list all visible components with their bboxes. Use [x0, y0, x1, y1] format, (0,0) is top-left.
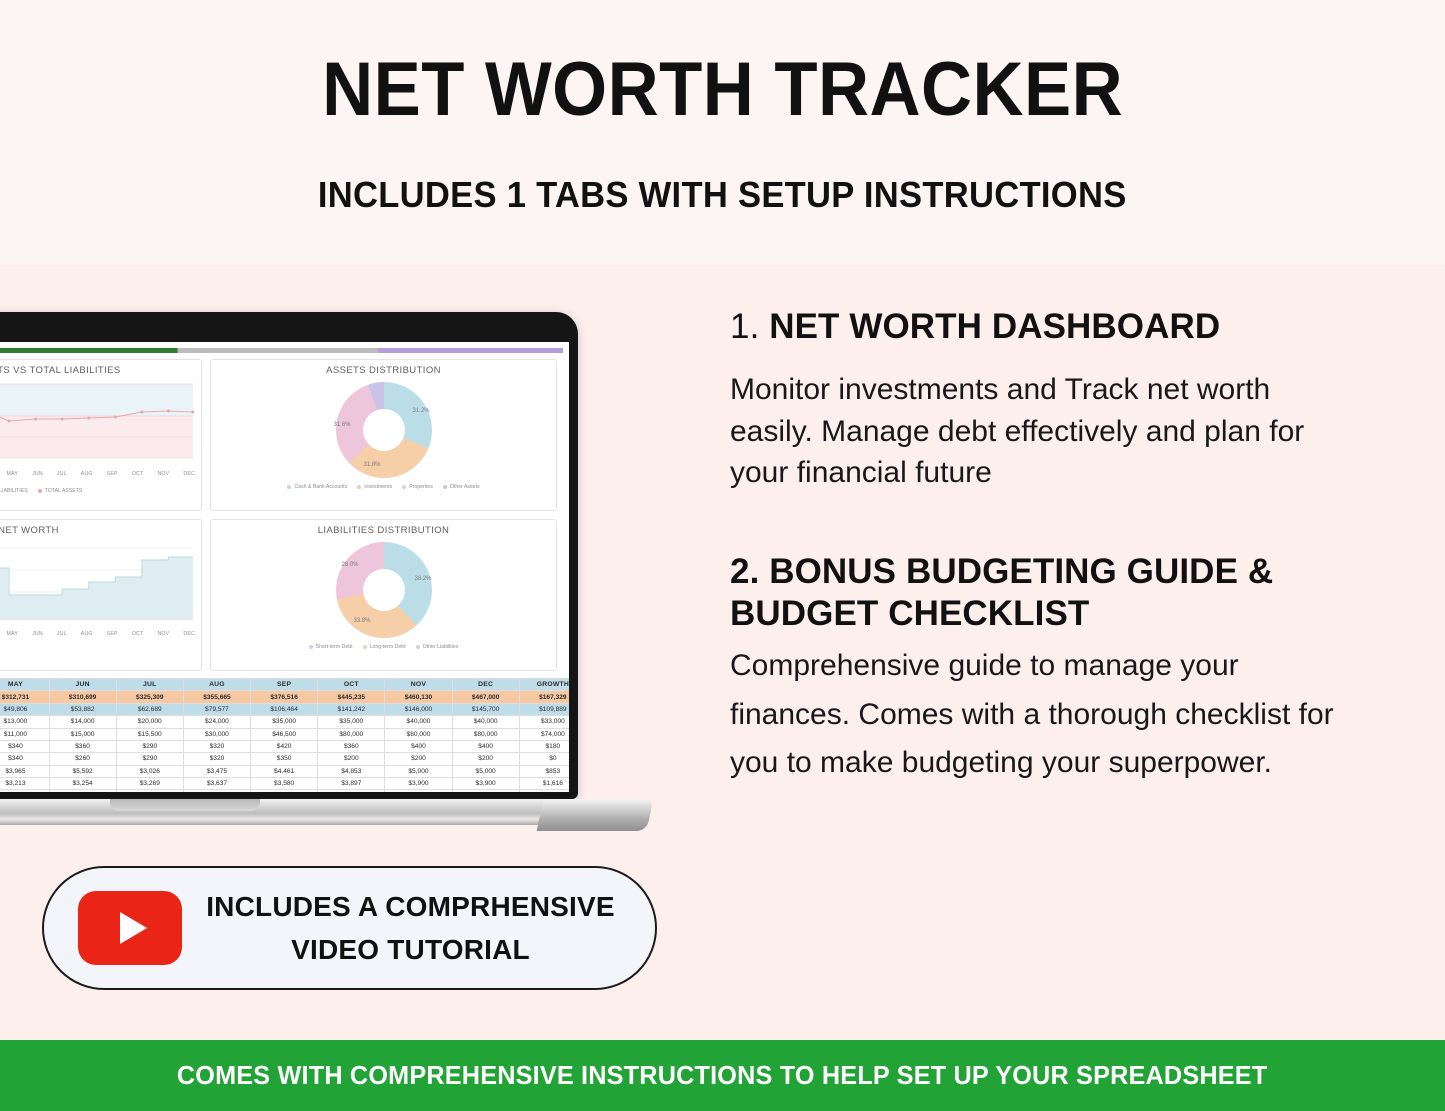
xaxis-net-worth: START JAN FEB MAR APR MAY JUN JUL AUG SE…: [0, 630, 197, 637]
feature-heading-2: 2. BONUS BUDGETING GUIDE & BUDGET CHECKL…: [730, 551, 1370, 634]
legend-item: Other Liabilities: [416, 644, 459, 650]
slice-label-short-term: 38.2%: [414, 576, 431, 582]
table-cell[interactable]: $3,637: [183, 778, 250, 790]
table-col-header: GROWTH: [519, 679, 569, 691]
table-cell[interactable]: $4,356: [251, 790, 318, 792]
xtick: SEP: [107, 471, 118, 477]
laptop-notch: [110, 799, 260, 811]
table-cell[interactable]: $460,130: [385, 691, 452, 703]
table-cell[interactable]: $350: [251, 753, 318, 765]
table-cell[interactable]: -$2,315: [519, 790, 569, 792]
table-cell[interactable]: $109,889: [519, 703, 569, 715]
legend-liabilities-distribution: Short-term Debt Long-term Debt Other Lia…: [215, 644, 552, 650]
table-cell[interactable]: $180: [519, 740, 569, 752]
chart-title-assets-vs-liabilities: TOTAL ASSETS VS TOTAL LIABILITIES: [0, 365, 197, 376]
table-row[interactable]: $280$300$340$360$290$320$420$360$400$400…: [0, 740, 569, 752]
video-tutorial-line2: VIDEO TUTORIAL: [182, 928, 639, 971]
donut-assets-distribution: 31.2% 31.8% 31.6%: [215, 378, 552, 482]
table-cell[interactable]: $340: [0, 740, 49, 752]
xtick: JUL: [57, 631, 67, 637]
chart-title-liabilities-distribution: LIABILITIES DISTRIBUTION: [215, 525, 552, 536]
xtick: SEP: [107, 631, 118, 637]
table-col-header: AUG: [183, 679, 250, 691]
table-row[interactable]: $302,485$396,856$312,731$310,699$325,309…: [0, 691, 569, 703]
legend-label: Properties: [409, 484, 433, 490]
feature-number-2: 2.: [730, 552, 759, 591]
xtick: NOV: [157, 631, 169, 637]
legend-item: Other Assets: [443, 484, 480, 490]
table-cell[interactable]: $5,703: [49, 790, 116, 792]
table-cell[interactable]: $4,853: [318, 765, 385, 777]
feature-number-1: 1.: [730, 307, 759, 346]
donut-hole: [363, 569, 405, 611]
legend-swatch-icon: [38, 489, 42, 493]
table-cell[interactable]: $320: [183, 740, 250, 752]
table-cell[interactable]: $400: [385, 740, 452, 752]
chart-card-net-worth: NET WORTH START: [0, 519, 202, 671]
legend-label: TOTAL LIABILITIES: [0, 488, 28, 494]
legend-swatch-icon: [309, 645, 313, 649]
legend-swatch-icon: [363, 645, 367, 649]
table-cell[interactable]: $15,000: [49, 728, 116, 740]
table-cell[interactable]: $200: [452, 753, 519, 765]
table-col-header: JUN: [49, 679, 116, 691]
slice-label-cash: 31.2%: [412, 408, 429, 414]
table-cell[interactable]: $4,461: [251, 765, 318, 777]
table-cell[interactable]: $35,000: [251, 716, 318, 728]
table-col-header: MAY: [0, 679, 49, 691]
table-cell[interactable]: $145,700: [452, 703, 519, 715]
laptop-foot: [537, 799, 654, 831]
table-cell[interactable]: $13,000: [0, 716, 49, 728]
legend-swatch-icon: [402, 485, 406, 489]
table-col-header: JUL: [116, 679, 183, 691]
legend-swatch-icon: [416, 645, 420, 649]
table-cell[interactable]: $3,900: [385, 778, 452, 790]
chart-title-net-worth: NET WORTH: [0, 525, 197, 536]
plot-svg-assets-vs-liabilities: [0, 378, 197, 470]
table-cell[interactable]: $74,000: [519, 728, 569, 740]
table-cell[interactable]: $35,000: [318, 716, 385, 728]
slice-label-properties: 31.6%: [334, 422, 351, 428]
table-col-header: DEC: [452, 679, 519, 691]
table-cell[interactable]: $3,965: [0, 765, 49, 777]
table-cell[interactable]: $80,000: [452, 728, 519, 740]
table-cell[interactable]: $325,309: [116, 691, 183, 703]
legend-item: TOTAL ASSETS: [38, 488, 83, 494]
xtick: JUL: [57, 471, 67, 477]
laptop-mockup: TOTAL ASSETS VS TOTAL LIABILITIES: [0, 312, 660, 832]
table-cell[interactable]: $24,000: [183, 716, 250, 728]
plot-net-worth: START JAN FEB MAR APR MAY JUN JUL AUG SE…: [0, 538, 197, 646]
feature-block-2: 2. BONUS BUDGETING GUIDE & BUDGET CHECKL…: [730, 551, 1370, 787]
charts-grid: TOTAL ASSETS VS TOTAL LIABILITIES: [0, 359, 563, 671]
table-cell[interactable]: $290: [116, 753, 183, 765]
xaxis-assets-vs-liabilities: START JAN FEB MAR APR MAY JUN JUL AUG SE…: [0, 470, 197, 477]
video-tutorial-line1: INCLUDES A COMPRHENSIVE: [182, 885, 639, 928]
table-header-row: MAR APR MAY JUN JUL AUG SEP OCT NOV DEC …: [0, 679, 569, 691]
xtick: AUG: [81, 471, 93, 477]
table-cell[interactable]: $200: [318, 753, 385, 765]
legend-swatch-icon: [357, 485, 361, 489]
table-cell[interactable]: $467,000: [452, 691, 519, 703]
legend-assets-vs-liabilities: TOTAL LIABILITIES TOTAL ASSETS: [0, 488, 197, 494]
table-cell[interactable]: $312,731: [0, 691, 49, 703]
legend-label: Long-term Debt: [370, 644, 406, 650]
chart-card-assets-distribution: ASSETS DISTRIBUTION 31.2% 31.8% 31.6% Ca…: [210, 359, 557, 511]
feature-title-2: BONUS BUDGETING GUIDE & BUDGET CHECKLIST: [730, 552, 1273, 632]
table-cell[interactable]: $167,329: [519, 691, 569, 703]
table-cell[interactable]: $11,000: [0, 728, 49, 740]
table-cell[interactable]: $0: [519, 753, 569, 765]
table-cell[interactable]: $260: [49, 753, 116, 765]
table-cell[interactable]: $360: [49, 740, 116, 752]
table-cell[interactable]: $3,254: [49, 778, 116, 790]
donut-hole: [363, 409, 405, 451]
table-cell[interactable]: $30,000: [183, 728, 250, 740]
feature-heading-1: 1. NET WORTH DASHBOARD: [730, 306, 1370, 347]
table-cell[interactable]: $5,109: [318, 790, 385, 792]
video-tutorial-label: INCLUDES A COMPRHENSIVE VIDEO TUTORIAL: [182, 885, 655, 972]
plot-svg-net-worth: [0, 538, 197, 630]
table-row[interactable]: $40,933$151,123$49,806$53,882$62,689$79,…: [0, 703, 569, 715]
table-cell[interactable]: $20,000: [116, 716, 183, 728]
table-cell[interactable]: $290: [116, 740, 183, 752]
table-cell[interactable]: $49,806: [0, 703, 49, 715]
legend-swatch-icon: [443, 485, 447, 489]
table-cell[interactable]: $1,616: [519, 778, 569, 790]
table-cell[interactable]: $106,464: [251, 703, 318, 715]
table-row[interactable]: $3,953$5,531$3,965$5,592$3,026$3,475$4,4…: [0, 765, 569, 777]
header: NET WORTH TRACKER INCLUDES 1 TABS WITH S…: [0, 0, 1445, 265]
table-cell[interactable]: $80,000: [385, 728, 452, 740]
table-cell[interactable]: $15,500: [116, 728, 183, 740]
laptop-screen: TOTAL ASSETS VS TOTAL LIABILITIES: [0, 342, 569, 792]
table-col-header: OCT: [318, 679, 385, 691]
feature-title-1: NET WORTH DASHBOARD: [769, 307, 1220, 346]
table-cell[interactable]: $3,580: [251, 778, 318, 790]
legend-assets-distribution: Cash & Bank Accounts Investments Propert…: [215, 484, 552, 490]
table-cell[interactable]: $5,200: [385, 790, 452, 792]
chart-title-assets-distribution: ASSETS DISTRIBUTION: [215, 365, 552, 376]
table-cell[interactable]: $3,900: [452, 778, 519, 790]
legend-label: Cash & Bank Accounts: [294, 484, 347, 490]
table-cell[interactable]: $853: [519, 765, 569, 777]
table-cell[interactable]: $53,882: [49, 703, 116, 715]
table-cell[interactable]: $400: [452, 740, 519, 752]
table-col-header: SEP: [251, 679, 318, 691]
table-cell[interactable]: $5,592: [49, 765, 116, 777]
table-cell[interactable]: $3,269: [116, 778, 183, 790]
table-cell[interactable]: $141,242: [318, 703, 385, 715]
feature-body-1: Monitor investments and Track net worth …: [730, 369, 1355, 493]
table-row[interactable]: $9,500$10,000$13,000$14,000$20,000$24,00…: [0, 716, 569, 728]
features-column: 1. NET WORTH DASHBOARD Monitor investmen…: [730, 306, 1370, 788]
table-cell[interactable]: $4,952: [116, 790, 183, 792]
table-cell[interactable]: $320: [183, 753, 250, 765]
table-cell[interactable]: $360: [318, 740, 385, 752]
xtick: OCT: [132, 471, 144, 477]
laptop-lid: TOTAL ASSETS VS TOTAL LIABILITIES: [0, 312, 578, 799]
table-cell[interactable]: $310,699: [49, 691, 116, 703]
legend-label: Other Liabilities: [423, 644, 459, 650]
table-cell[interactable]: $376,516: [251, 691, 318, 703]
spreadsheet-toolbar-strip: [0, 348, 563, 353]
donut-ring-assets: 31.2% 31.8% 31.6%: [336, 382, 432, 478]
xtick: OCT: [132, 631, 144, 637]
page-subtitle: INCLUDES 1 TABS WITH SETUP INSTRUCTIONS: [318, 174, 1127, 216]
feature-block-1: 1. NET WORTH DASHBOARD Monitor investmen…: [730, 306, 1370, 493]
legend-item: TOTAL LIABILITIES: [0, 488, 28, 494]
table-cell[interactable]: $80,000: [318, 728, 385, 740]
table-cell[interactable]: $445,235: [318, 691, 385, 703]
legend-item: Short-term Debt: [309, 644, 353, 650]
table-cell[interactable]: $46,500: [251, 728, 318, 740]
xtick: JUN: [32, 631, 43, 637]
legend-label: Short-term Debt: [316, 644, 353, 650]
feature-body-2: Comprehensive guide to manage your finan…: [730, 642, 1355, 788]
table-cell[interactable]: $40,000: [452, 716, 519, 728]
table-cell[interactable]: $40,000: [385, 716, 452, 728]
table-cell[interactable]: $146,000: [385, 703, 452, 715]
legend-label: TOTAL ASSETS: [45, 488, 83, 494]
table-cell[interactable]: $5,000: [385, 765, 452, 777]
spreadsheet-table[interactable]: MAR APR MAY JUN JUL AUG SEP OCT NOV DEC …: [0, 678, 569, 792]
table-cell[interactable]: $5,000: [452, 765, 519, 777]
table-cell[interactable]: $3,475: [183, 765, 250, 777]
slice-label-long-term: 33.8%: [354, 618, 371, 624]
table-cell[interactable]: $62,689: [116, 703, 183, 715]
donut-ring-liabilities: 38.2% 33.8% 28.0%: [336, 542, 432, 638]
table-cell[interactable]: $3,213: [0, 778, 49, 790]
spreadsheet-dashboard: TOTAL ASSETS VS TOTAL LIABILITIES: [0, 342, 569, 792]
slice-label-investments: 31.8%: [364, 462, 381, 468]
play-triangle-icon: [120, 912, 147, 944]
footer-banner: COMES WITH COMPREHENSIVE INSTRUCTIONS TO…: [0, 1040, 1445, 1111]
legend-label: Other Assets: [450, 484, 480, 490]
footer-label: COMES WITH COMPREHENSIVE INSTRUCTIONS TO…: [177, 1060, 1268, 1091]
table-body: $302,485$396,856$312,731$310,699$325,309…: [0, 691, 569, 792]
xtick: AUG: [81, 631, 93, 637]
xtick: DEC: [183, 471, 195, 477]
table-row[interactable]: $9,000$95,000$11,000$15,000$15,500$30,00…: [0, 728, 569, 740]
legend-item: Properties: [402, 484, 433, 490]
table-cell[interactable]: $420: [251, 740, 318, 752]
donut-liabilities-distribution: 38.2% 33.8% 28.0%: [215, 538, 552, 642]
table-row[interactable]: $320$330$340$260$290$320$350$200$200$200…: [0, 753, 569, 765]
table-cell[interactable]: $5,200: [452, 790, 519, 792]
table-cell[interactable]: $3,026: [116, 765, 183, 777]
plot-assets-vs-liabilities: START JAN FEB MAR APR MAY JUN JUL AUG SE…: [0, 378, 197, 486]
page-title: NET WORTH TRACKER: [322, 50, 1123, 130]
table-cell[interactable]: $200: [385, 753, 452, 765]
xtick: MAY: [7, 631, 18, 637]
video-tutorial-badge[interactable]: INCLUDES A COMPRHENSIVE VIDEO TUTORIAL: [42, 866, 657, 990]
table-cell[interactable]: $33,000: [519, 716, 569, 728]
xtick: NOV: [157, 471, 169, 477]
table-cell[interactable]: $3,897: [318, 778, 385, 790]
legend-item: Investments: [357, 484, 392, 490]
table-cell[interactable]: $7,348: [0, 790, 49, 792]
slice-label-other: 28.0%: [342, 562, 359, 568]
table-row[interactable]: $3,124$5,024$3,213$3,254$3,269$3,637$3,5…: [0, 778, 569, 790]
youtube-play-icon: [78, 891, 182, 965]
legend-item: Long-term Debt: [363, 644, 406, 650]
xtick: DEC: [183, 631, 195, 637]
chart-card-assets-vs-liabilities: TOTAL ASSETS VS TOTAL LIABILITIES: [0, 359, 202, 511]
legend-item: Cash & Bank Accounts: [287, 484, 347, 490]
legend-swatch-icon: [287, 485, 291, 489]
legend-label: Investments: [364, 484, 392, 490]
table-cell[interactable]: $355,665: [183, 691, 250, 703]
table-cell[interactable]: $7,141: [183, 790, 250, 792]
table-row[interactable]: $4,579$7,371$7,348$5,703$4,952$7,141$4,3…: [0, 790, 569, 792]
table-cell[interactable]: $79,577: [183, 703, 250, 715]
table-cell[interactable]: $340: [0, 753, 49, 765]
chart-card-liabilities-distribution: LIABILITIES DISTRIBUTION 38.2% 33.8% 28.…: [210, 519, 557, 671]
xtick: MAY: [7, 471, 18, 477]
xtick: JUN: [32, 471, 43, 477]
table-cell[interactable]: $14,000: [49, 716, 116, 728]
table-col-header: NOV: [385, 679, 452, 691]
